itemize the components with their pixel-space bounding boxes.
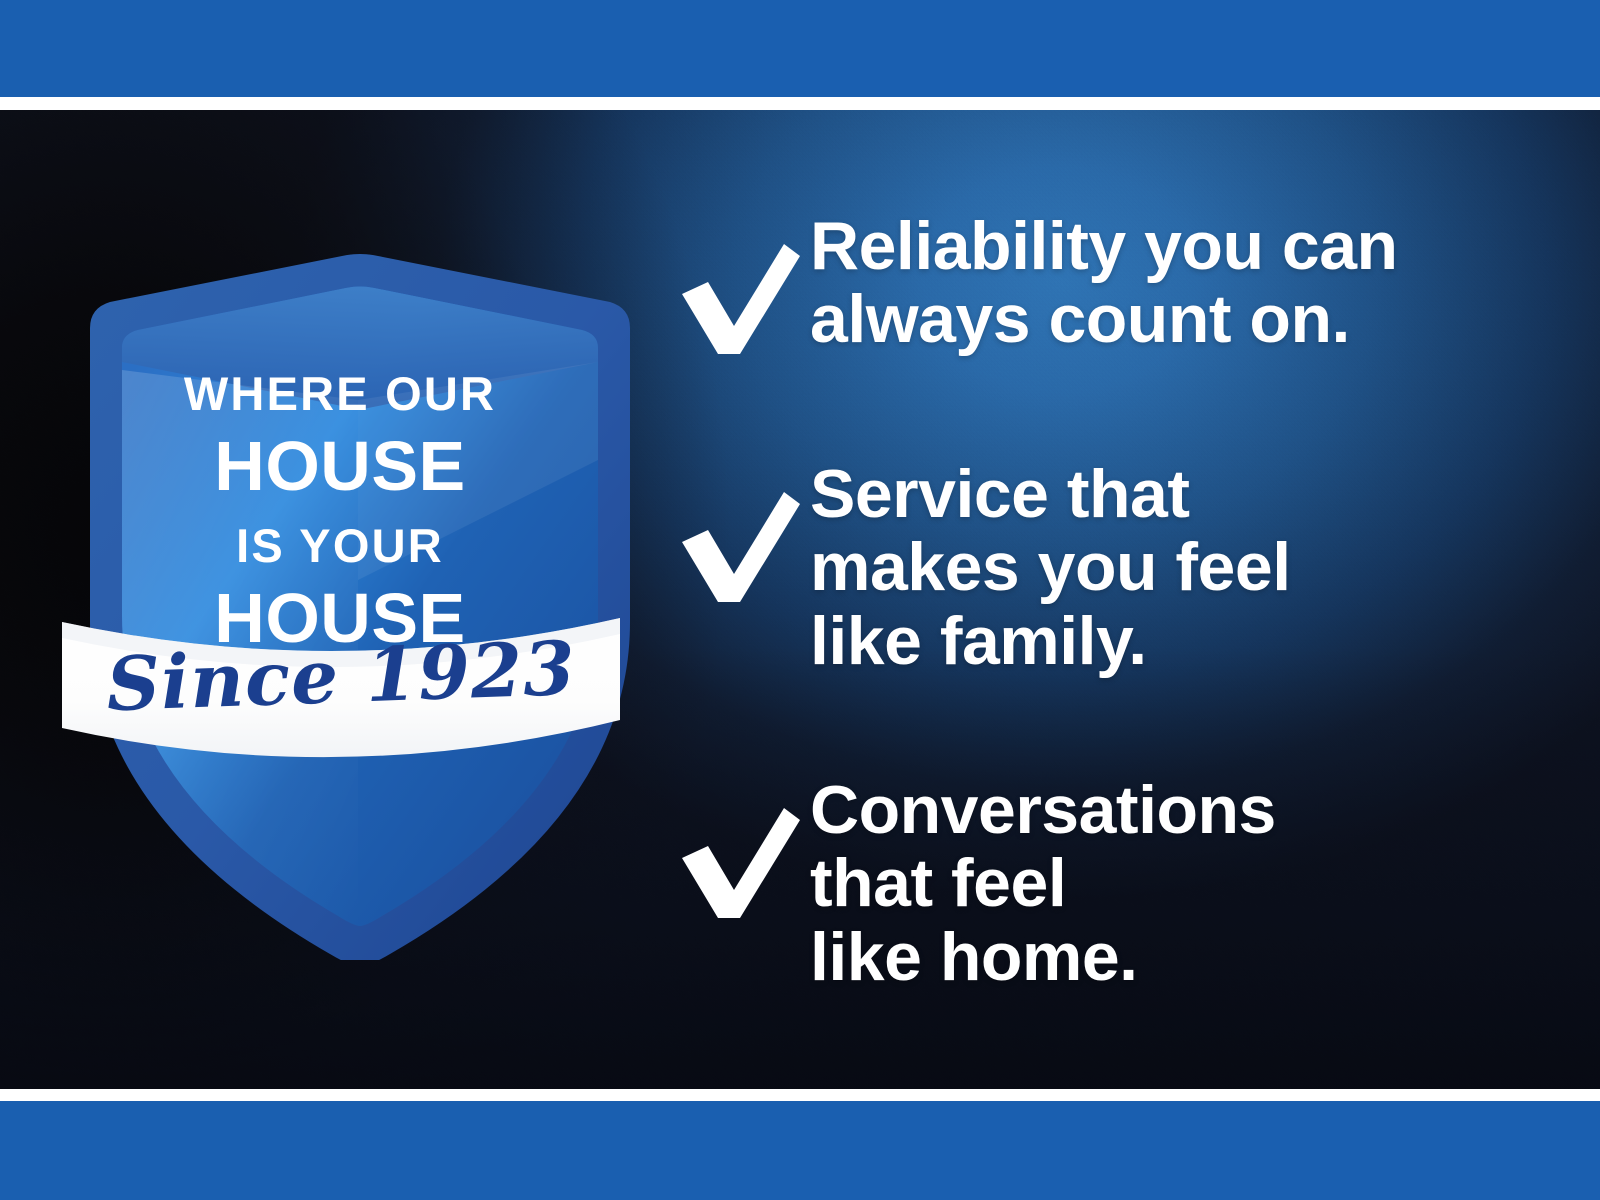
benefit-text-service: Service that makes you feel like family. xyxy=(810,458,1291,678)
bottom-white-divider xyxy=(0,1089,1600,1101)
checkmark-icon xyxy=(660,210,810,358)
shield-line-2: HOUSE xyxy=(214,427,465,505)
top-white-divider xyxy=(0,97,1600,110)
shield-line-3: IS YOUR xyxy=(236,519,444,572)
shield-emblem: WHERE OUR HOUSE IS YOUR HOUSE Since 1923 xyxy=(50,250,630,960)
checkmark-icon xyxy=(660,774,810,922)
benefit-text-conversations: Conversations that feel like home. xyxy=(810,774,1276,994)
promo-banner-canvas: WHERE OUR HOUSE IS YOUR HOUSE Since 1923… xyxy=(0,0,1600,1200)
checkmark-icon xyxy=(660,458,810,606)
bottom-brand-bar xyxy=(0,1101,1600,1200)
ribbon-label: Since 1923 xyxy=(105,626,577,728)
top-brand-bar xyxy=(0,0,1600,97)
benefit-item-reliability: Reliability you can always count on. xyxy=(660,210,1398,358)
benefit-item-service: Service that makes you feel like family. xyxy=(660,458,1291,678)
shield-line-1: WHERE OUR xyxy=(184,367,496,420)
ribbon-banner: Since 1923 xyxy=(62,618,620,757)
benefit-text-reliability: Reliability you can always count on. xyxy=(810,210,1398,357)
benefit-item-conversations: Conversations that feel like home. xyxy=(660,774,1276,994)
